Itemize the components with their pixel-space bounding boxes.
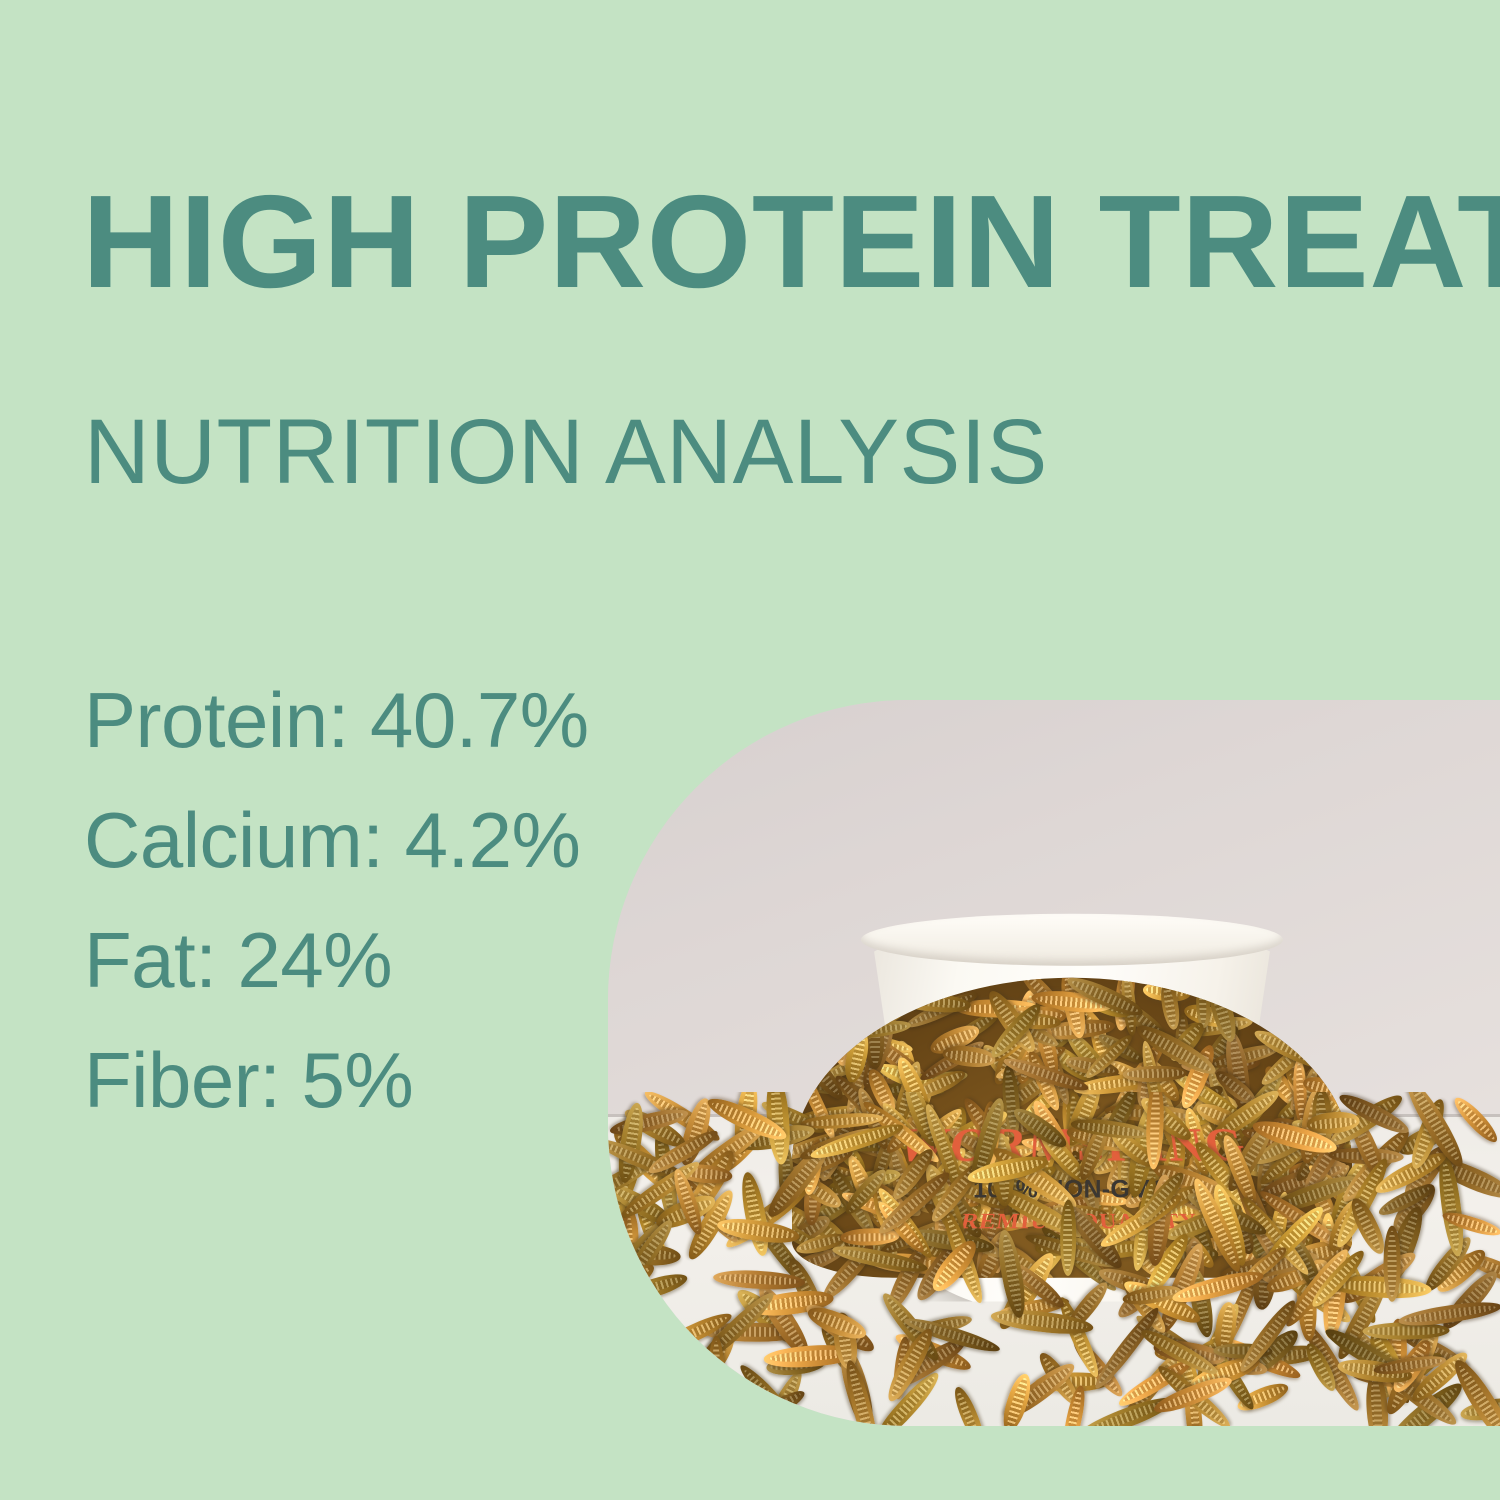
page-title: HIGH PROTEIN TREATS — [82, 176, 1490, 308]
larva — [1383, 1226, 1400, 1302]
larva — [950, 1385, 988, 1426]
photo-scene: WORMSKING 100% NON-GMO PREMIUM QUALITY — [608, 700, 1500, 1426]
larva — [1060, 1200, 1076, 1276]
nutrition-list: Protein: 40.7% Calcium: 4.2% Fat: 24% Fi… — [84, 660, 704, 1140]
larva — [1145, 1092, 1165, 1170]
nutrition-row-fat: Fat: 24% — [84, 900, 704, 1020]
product-infographic: HIGH PROTEIN TREATS NUTRITION ANALYSIS P… — [0, 0, 1500, 1500]
text-column: HIGH PROTEIN TREATS NUTRITION ANALYSIS P… — [0, 0, 700, 1500]
nutrition-row-protein: Protein: 40.7% — [84, 660, 704, 780]
nutrition-row-calcium: Calcium: 4.2% — [84, 780, 704, 900]
larva — [1450, 1093, 1500, 1147]
section-subtitle: NUTRITION ANALYSIS — [84, 406, 1048, 498]
nutrition-row-fiber: Fiber: 5% — [84, 1020, 704, 1140]
bowl-rim — [861, 913, 1282, 965]
scattered-larvae — [608, 1092, 1500, 1426]
product-photo: WORMSKING 100% NON-GMO PREMIUM QUALITY — [608, 700, 1500, 1426]
